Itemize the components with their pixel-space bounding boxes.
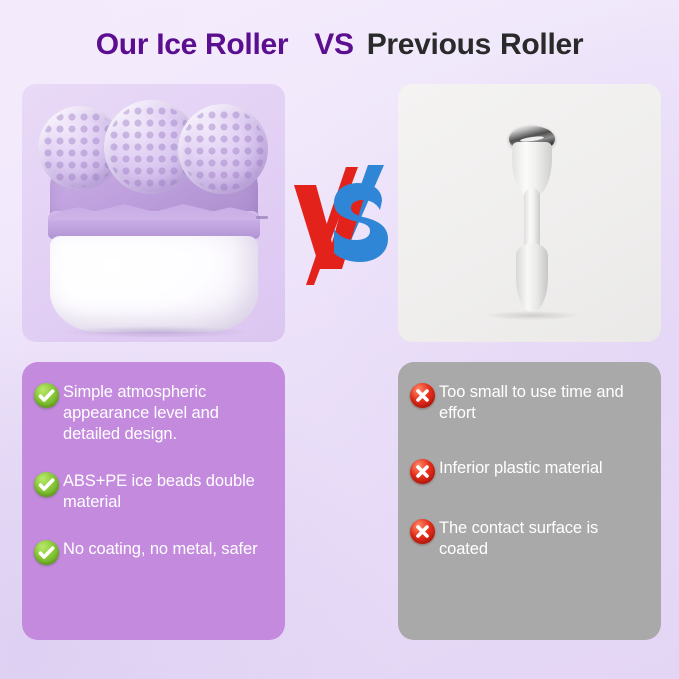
red-cross-icon: [410, 383, 435, 408]
list-item: Simple atmospheric appearance level and …: [34, 382, 271, 445]
title-vs-label: VS: [314, 28, 353, 62]
list-item: Inferior plastic material: [410, 458, 647, 484]
red-cross-icon: [410, 459, 435, 484]
roller-collar-band: [48, 211, 260, 239]
roller-bead-lobe-right: [178, 104, 268, 194]
list-item: No coating, no metal, safer: [34, 539, 271, 565]
red-cross-icon: [410, 519, 435, 544]
our-product-feature-panel: Simple atmospheric appearance level and …: [22, 362, 285, 640]
title-previous-word-1: Previous: [367, 28, 491, 61]
green-check-icon: [34, 540, 59, 565]
roller-drop-shadow: [64, 326, 246, 338]
list-item-label: Inferior plastic material: [439, 458, 602, 479]
title-previous-word-2: Roller: [500, 28, 583, 61]
list-item-label: Simple atmospheric appearance level and …: [63, 382, 271, 445]
product-comparison-page: Our Ice Roller VS PreviousRoller: [0, 0, 679, 679]
list-item-label: ABS+PE ice beads double material: [63, 471, 271, 513]
green-check-icon: [34, 472, 59, 497]
previous-product-feature-list: Too small to use time and effort Inferio…: [410, 382, 647, 560]
title-our-product: Our Ice Roller: [96, 28, 289, 62]
roller-white-base: [50, 236, 258, 332]
previous-roller-handle-foot: [516, 244, 548, 312]
list-item-label: Too small to use time and effort: [439, 382, 647, 424]
list-item: ABS+PE ice beads double material: [34, 471, 271, 513]
list-item: Too small to use time and effort: [410, 382, 647, 424]
green-check-icon: [34, 383, 59, 408]
previous-roller-drop-shadow: [486, 311, 578, 320]
vs-badge: [288, 165, 392, 287]
previous-product-feature-panel: Too small to use time and effort Inferio…: [398, 362, 661, 640]
our-product-image-panel: [22, 84, 285, 342]
vs-badge-graphic: [288, 165, 392, 287]
page-title: Our Ice Roller VS PreviousRoller: [0, 24, 679, 66]
roller-vent-slot: [256, 216, 268, 219]
previous-roller-illustration: [398, 84, 661, 342]
list-item-label: No coating, no metal, safer: [63, 539, 258, 560]
title-previous-product: PreviousRoller: [367, 28, 584, 62]
ice-roller-illustration: [30, 90, 278, 338]
our-product-feature-list: Simple atmospheric appearance level and …: [34, 382, 271, 565]
previous-product-image-panel: [398, 84, 661, 342]
list-item: The contact surface is coated: [410, 518, 647, 560]
list-item-label: The contact surface is coated: [439, 518, 647, 560]
